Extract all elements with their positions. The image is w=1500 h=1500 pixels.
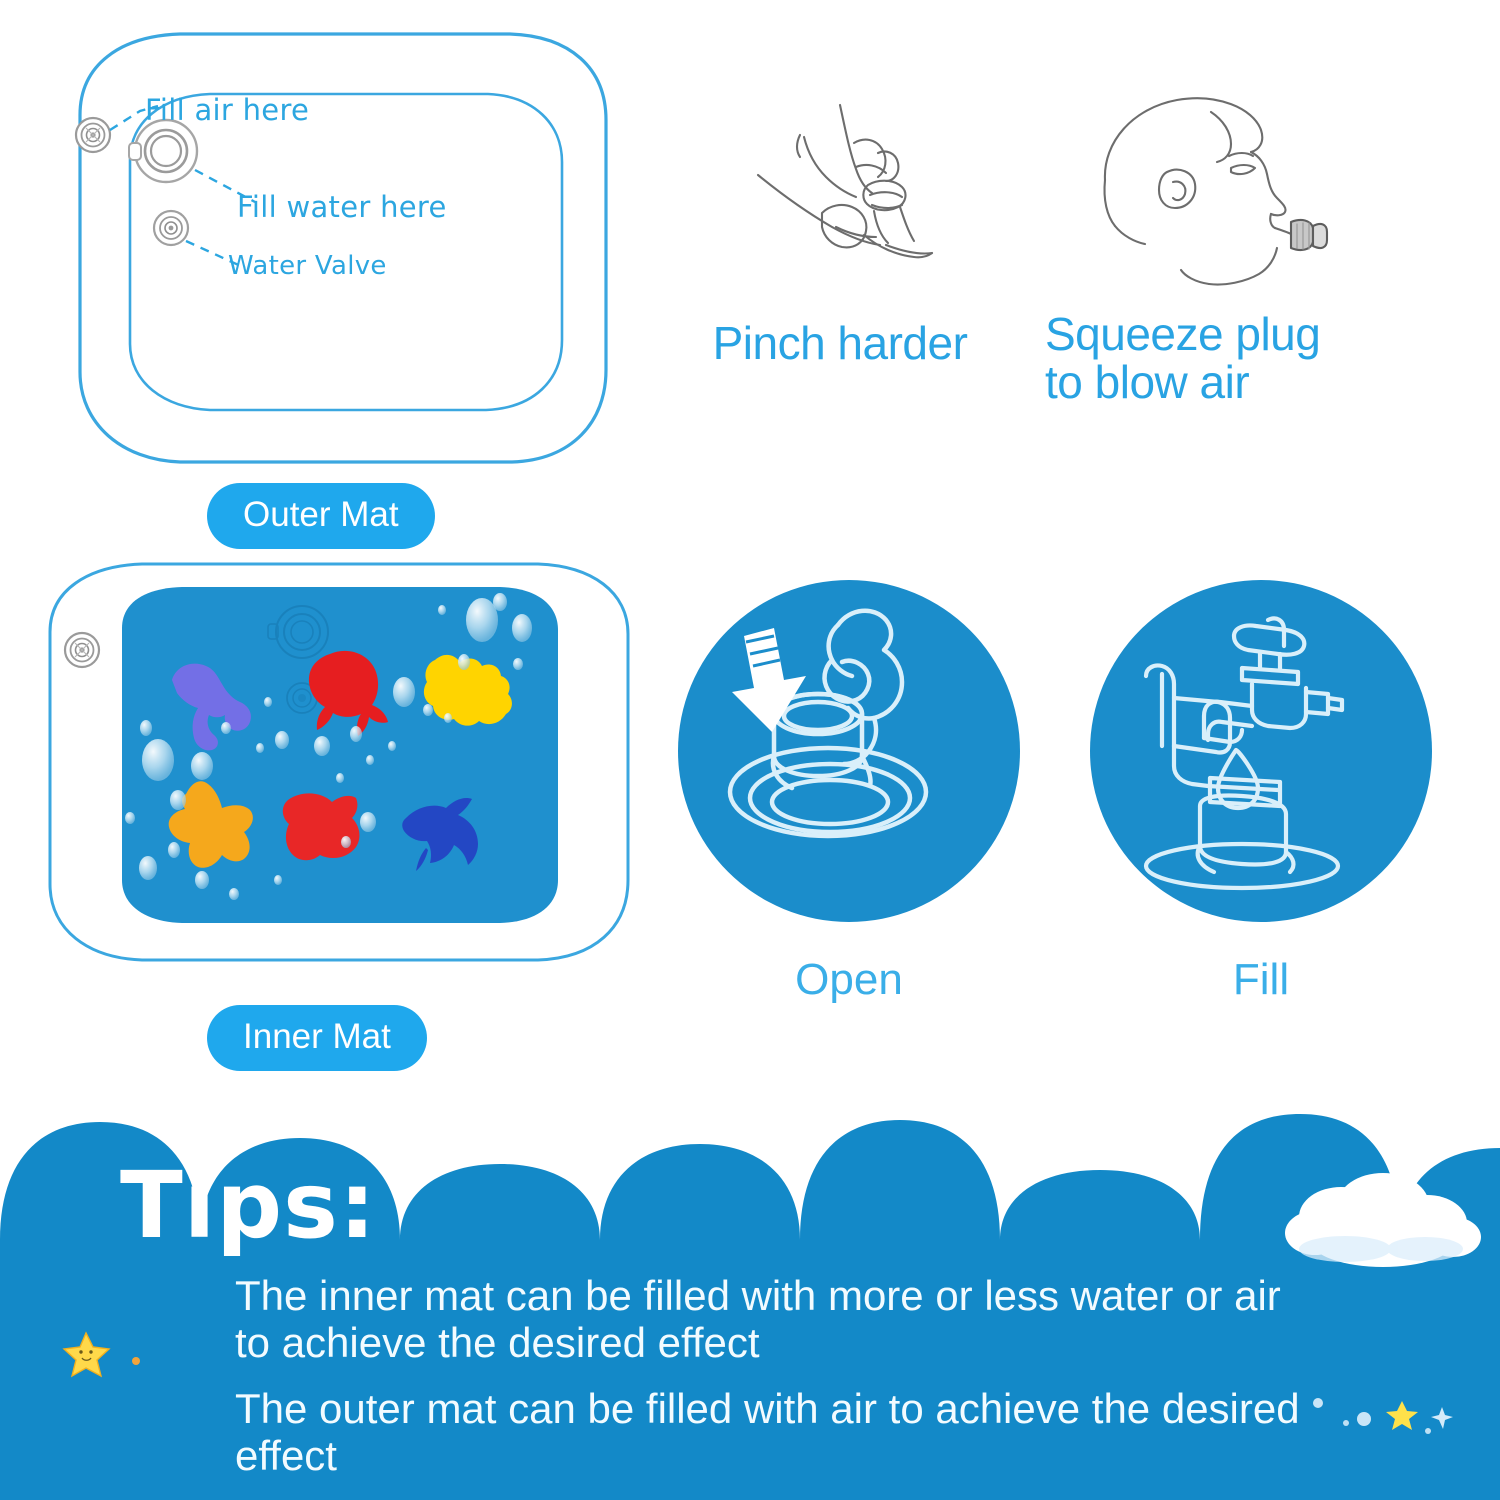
hand-pinching-valve-sketch-icon [650, 95, 1030, 310]
step-open-icon-circle [678, 580, 1020, 922]
decor-bubble [1357, 1412, 1371, 1426]
decor-bubble [1343, 1420, 1349, 1426]
pinch-harder-block: Pinch harder [650, 95, 1030, 367]
callout-water-valve: Water Valve [228, 251, 387, 281]
callout-fill-water-here: Fill water here [237, 190, 447, 224]
valve-open-arrow-icon [678, 580, 1020, 922]
inner-mat-water-area [122, 587, 558, 923]
tips-decor-left [60, 1325, 230, 1435]
decor-bubble [1425, 1428, 1431, 1434]
head-profile-blowing-sketch-icon [1045, 90, 1445, 305]
caption-squeeze-line2: to blow air [1045, 358, 1445, 406]
caption-pinch-harder: Pinch harder [650, 319, 1030, 367]
outer-mat-diagram [40, 10, 640, 490]
down-arrow-icon [732, 628, 806, 732]
instruction-sheet: Fill air here Fill water here Water Valv… [0, 0, 1500, 1500]
tip-item: The outer mat can be filled with air to … [235, 1385, 1325, 1479]
tips-title: Tips: [120, 1160, 377, 1252]
caption-open: Open [678, 955, 1020, 1005]
callout-fill-air-here: Fill air here [145, 93, 309, 127]
badge-inner-mat: Inner Mat [207, 1005, 427, 1071]
small-star-icon [1386, 1401, 1418, 1430]
water-valve-icon [154, 211, 188, 245]
decor-dot [132, 1357, 140, 1365]
inner-mat-outline [30, 550, 650, 1010]
outer-mat-outline [40, 10, 640, 490]
air-valve-icon [76, 118, 110, 152]
small-star-face-icon [64, 1333, 109, 1376]
faucet-water-drop-icon [1090, 580, 1432, 922]
inner-mat-diagram [30, 550, 650, 1010]
step-fill-icon-circle [1090, 580, 1432, 922]
caption-fill: Fill [1090, 955, 1432, 1005]
sparkle-icon [1431, 1407, 1453, 1429]
creature-red-fish [283, 793, 360, 860]
inner-mat-air-valve-icon [65, 633, 99, 667]
badge-outer-mat: Outer Mat [207, 483, 435, 549]
caption-squeeze-plug: Squeeze plug to blow air [1045, 310, 1445, 407]
tip-item: The inner mat can be filled with more or… [235, 1272, 1325, 1366]
squeeze-plug-block: Squeeze plug to blow air [1045, 90, 1445, 407]
caption-squeeze-line1: Squeeze plug [1045, 310, 1445, 358]
